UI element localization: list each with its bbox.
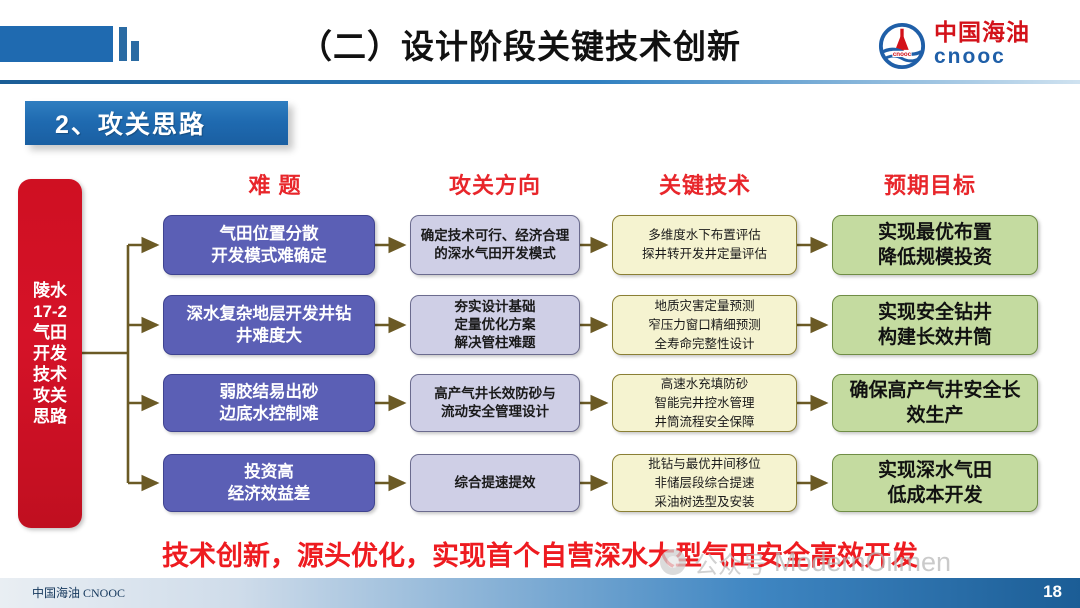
slide-canvas: （二）设计阶段关键技术创新 cnooc 中国海油 cnooc 2、攻关思路 难 …: [0, 0, 1080, 608]
difficulty-box-4[interactable]: 投资高 经济效益差: [163, 454, 375, 512]
direction-label-2: 夯实设计基础 定量优化方案 解决管柱难题: [455, 298, 536, 352]
summary-slogan: 技术创新，源头优化，实现首个自营深水大型气田安全高效开发: [0, 533, 1080, 573]
goal-box-4[interactable]: 实现深水气田 低成本开发: [832, 454, 1038, 512]
key-tech-box-2[interactable]: 地质灾害定量预测 窄压力窗口精细预测 全寿命完整性设计: [612, 295, 797, 355]
column-header-difficulty: 难 题: [200, 168, 350, 200]
header-accent-bar-medium: [119, 27, 127, 61]
key-tech-box-4[interactable]: 批钻与最优井间移位 非储层段综合提速 采油树选型及安装: [612, 454, 797, 512]
column-header-goal: 预期目标: [855, 168, 1005, 200]
cnooc-logo: cnooc 中国海油 cnooc: [878, 20, 1068, 72]
cnooc-logo-icon: cnooc: [878, 22, 926, 70]
header-accent-bar-large: [0, 26, 113, 62]
difficulty-label-4: 投资高 经济效益差: [228, 461, 311, 505]
header-divider: [0, 80, 1080, 84]
section-title-label: 2、攻关思路: [25, 105, 206, 141]
direction-box-4[interactable]: 综合提速提效: [410, 454, 580, 512]
section-title-chip: 2、攻关思路: [25, 101, 288, 145]
key-tech-label-4: 批钻与最优井间移位 非储层段综合提速 采油树选型及安装: [648, 455, 761, 512]
goal-label-1: 实现最优布置 降低规模投资: [878, 220, 992, 270]
difficulty-label-3: 弱胶结易出砂 边底水控制难: [220, 381, 319, 425]
difficulty-label-2: 深水复杂地层开发井钻 井难度大: [187, 303, 352, 347]
header-accent-bar-small: [131, 41, 139, 61]
logo-text-cn: 中国海油: [934, 20, 1030, 45]
goal-label-3: 确保高产气井安全长 效生产: [849, 378, 1020, 428]
difficulty-box-2[interactable]: 深水复杂地层开发井钻 井难度大: [163, 295, 375, 355]
goal-label-2: 实现安全钻井 构建长效井筒: [878, 300, 992, 350]
goal-label-4: 实现深水气田 低成本开发: [878, 458, 992, 508]
column-header-direction: 攻关方向: [420, 168, 570, 200]
page-title: （二）设计阶段关键技术创新: [240, 16, 800, 72]
svg-text:cnooc: cnooc: [893, 51, 912, 58]
difficulty-box-3[interactable]: 弱胶结易出砂 边底水控制难: [163, 374, 375, 432]
direction-box-2[interactable]: 夯实设计基础 定量优化方案 解决管柱难题: [410, 295, 580, 355]
direction-label-4: 综合提速提效: [455, 474, 536, 492]
key-tech-box-1[interactable]: 多维度水下布置评估 探井转开发井定量评估: [612, 215, 797, 275]
goal-box-2[interactable]: 实现安全钻井 构建长效井筒: [832, 295, 1038, 355]
goal-box-3[interactable]: 确保高产气井安全长 效生产: [832, 374, 1038, 432]
key-tech-label-2: 地质灾害定量预测 窄压力窗口精细预测 全寿命完整性设计: [648, 297, 761, 354]
column-header-key-tech: 关键技术: [630, 168, 780, 200]
spine-label: 陵水 17-2 气田 开发 技术 攻关 思路: [33, 280, 67, 427]
key-tech-box-3[interactable]: 高速水充填防砂 智能完井控水管理 井筒流程安全保障: [612, 374, 797, 432]
key-tech-label-1: 多维度水下布置评估 探井转开发井定量评估: [642, 226, 767, 264]
slide-header: （二）设计阶段关键技术创新 cnooc 中国海油 cnooc: [0, 0, 1080, 88]
footer-brand-label: 中国海油 CNOOC: [32, 584, 125, 601]
logo-text-en: cnooc: [934, 45, 1006, 68]
slide-footer: [0, 578, 1080, 608]
direction-label-3: 高产气井长效防砂与 流动安全管理设计: [434, 385, 556, 421]
difficulty-box-1[interactable]: 气田位置分散 开发模式难确定: [163, 215, 375, 275]
direction-label-1: 确定技术可行、经济合理 的深水气田开发模式: [421, 227, 570, 263]
goal-box-1[interactable]: 实现最优布置 降低规模投资: [832, 215, 1038, 275]
spine-box: 陵水 17-2 气田 开发 技术 攻关 思路: [18, 179, 82, 528]
direction-box-3[interactable]: 高产气井长效防砂与 流动安全管理设计: [410, 374, 580, 432]
direction-box-1[interactable]: 确定技术可行、经济合理 的深水气田开发模式: [410, 215, 580, 275]
difficulty-label-1: 气田位置分散 开发模式难确定: [211, 223, 327, 267]
key-tech-label-3: 高速水充填防砂 智能完井控水管理 井筒流程安全保障: [654, 375, 754, 432]
footer-page-number: 18: [1043, 582, 1062, 602]
